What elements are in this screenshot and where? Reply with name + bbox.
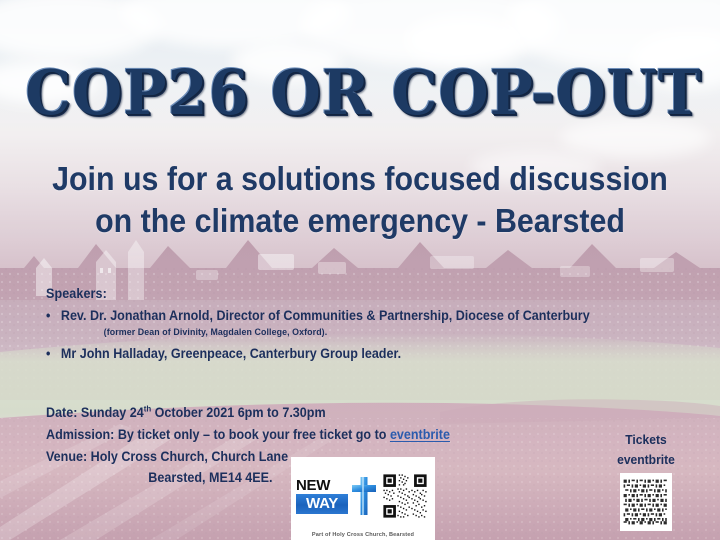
date-label: Date: [46,405,77,420]
tickets-label: Tickets [603,430,689,450]
speaker-name-2: Mr John Halladay, Greenpeace, Canterbury… [61,345,401,363]
logo-word-new: NEW [296,478,348,494]
venue-value: Holy Cross Church, Church Lane [87,449,288,464]
speaker-item: • Mr John Halladay, Greenpeace, Canterbu… [46,345,660,363]
bullet-icon: • [46,307,61,325]
date-line: Date: Sunday 24th October 2021 6pm to 7.… [46,402,530,424]
subtitle-line-1: Join us for a solutions focused discussi… [29,158,691,200]
qr-code [382,473,428,519]
venue-label: Venue: [46,449,87,464]
logo-caption: Part of Holy Cross Church, Bearsted [296,531,430,538]
admission-value: By ticket only – to book your free ticke… [114,427,390,442]
logo-wordmark: NEW WAY [296,478,348,515]
bullet-icon: • [46,345,61,363]
logo-word-way: WAY [296,494,348,514]
venue-line: Venue: Holy Cross Church, Church Lane [46,446,530,468]
poster-title: COP26 OR COP-OUT [25,62,695,124]
speaker-name-1: Rev. Dr. Jonathan Arnold, Director of Co… [61,307,590,325]
event-details: Date: Sunday 24th October 2021 6pm to 7.… [46,402,530,487]
eventbrite-link[interactable]: eventbrite [390,427,450,442]
speaker-item: • Rev. Dr. Jonathan Arnold, Director of … [46,307,660,325]
tickets-provider: eventbrite [603,450,689,470]
poster-canvas: COP26 OR COP-OUT Join us for a solutions… [0,0,720,540]
admission-label: Admission: [46,427,114,442]
speakers-heading: Speakers: [46,286,660,301]
date-ordinal: th [144,404,151,414]
venue-line-2: Bearsted, ME14 4EE. [46,468,530,488]
cross-icon [351,476,377,516]
date-value-pre: Sunday 24 [77,405,143,420]
new-way-logo: NEW WAY [291,457,435,540]
logo-row: NEW WAY [296,461,430,531]
admission-line: Admission: By ticket only – to book your… [46,424,530,446]
date-value-post: October 2021 6pm to 7.30pm [151,405,325,420]
tickets-section: Tickets eventbrite [600,430,692,536]
speakers-section: Speakers: • Rev. Dr. Jonathan Arnold, Di… [46,286,660,365]
poster-subtitle: Join us for a solutions focused discussi… [29,158,691,242]
qr-code[interactable] [620,473,672,531]
subtitle-line-2: on the climate emergency - Bearsted [29,200,691,242]
speaker-subtitle-1: (former Dean of Divinity, Magdalen Colle… [104,327,660,339]
